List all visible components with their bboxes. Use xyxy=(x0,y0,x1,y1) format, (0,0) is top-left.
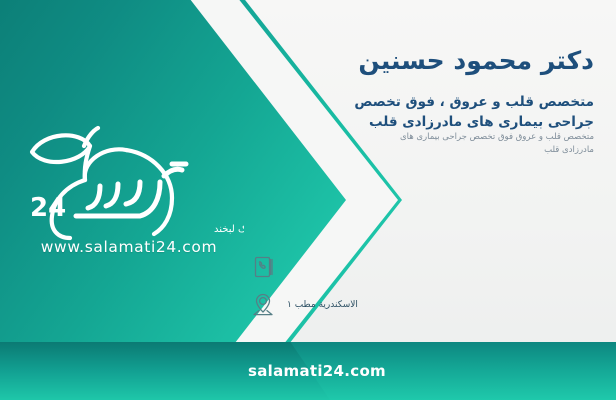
location-pin-icon xyxy=(248,289,278,321)
phone-book-icon xyxy=(248,251,278,283)
footer-website-url[interactable]: salamati24.com xyxy=(248,362,386,380)
contact-block: الاسکندریة مطب ۱ xyxy=(248,248,598,324)
doctor-specialty-secondary: متخصص قلب و عروق فوق تخصص جراحی بیماری ه… xyxy=(294,131,594,157)
doctor-specialty: متخصص قلب و عروق ، فوق تخصص جراحی بیماری… xyxy=(174,92,594,133)
brand-logo: 24 برای حتی یک لبخند www.salamati24.com xyxy=(14,120,244,270)
badge-24: 24 xyxy=(30,193,66,223)
contact-address-text: الاسکندریة مطب ۱ xyxy=(287,300,358,310)
apple-leaf-logo: 24 برای حتی یک لبخند xyxy=(14,120,244,242)
specialty-line-1: متخصص قلب و عروق ، فوق تخصص xyxy=(174,92,594,112)
doctor-name: دکتر محمود حسنین xyxy=(174,46,594,76)
specialty-small-line-2: مادرزادی قلب xyxy=(294,144,594,157)
contact-row-address[interactable]: الاسکندریة مطب ۱ xyxy=(248,286,598,324)
contact-row-phone[interactable] xyxy=(248,248,598,286)
specialty-line-2: جراحی بیماری های مادرزادی قلب xyxy=(174,112,594,132)
specialty-small-line-1: متخصص قلب و عروق فوق تخصص جراحی بیماری ه… xyxy=(294,131,594,144)
logo-website-url: www.salamati24.com xyxy=(14,238,244,256)
business-card: 24 برای حتی یک لبخند www.salamati24.com … xyxy=(0,0,616,400)
footer-bar: salamati24.com xyxy=(0,342,616,400)
logo-tagline: برای حتی یک لبخند xyxy=(214,224,244,235)
svg-text:24: 24 xyxy=(30,193,66,223)
